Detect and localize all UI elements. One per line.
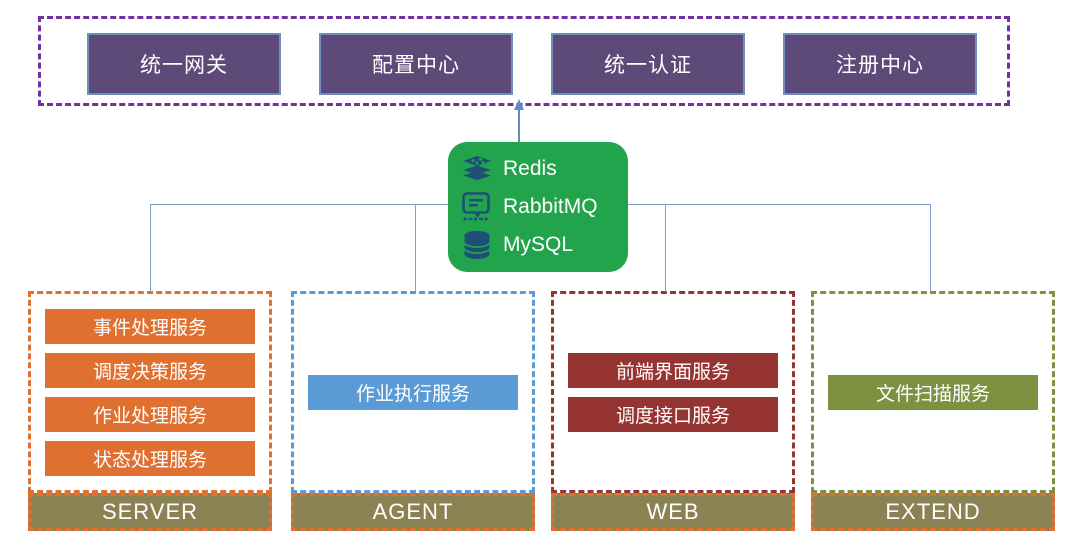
group-label-web: WEB xyxy=(551,493,795,531)
top-box-registry-center[interactable]: 注册中心 xyxy=(783,33,977,95)
service-label: 事件处理服务 xyxy=(93,313,207,340)
middleware-label: RabbitMQ xyxy=(503,195,598,219)
service-box-event-processing[interactable]: 事件处理服务 xyxy=(45,309,255,344)
group-label-server: SERVER xyxy=(28,493,272,531)
uplink-arrow-to-gateway xyxy=(514,99,524,143)
connector-drop-agent xyxy=(415,204,416,292)
gateway-layer-container: 统一网关 配置中心 统一认证 注册中心 xyxy=(38,16,1010,106)
middleware-item-redis[interactable]: Redis xyxy=(460,150,628,188)
group-label-text: SERVER xyxy=(102,499,198,525)
group-agent: 作业执行服务 xyxy=(291,291,535,493)
service-label: 作业处理服务 xyxy=(93,401,207,428)
service-box-job-processing[interactable]: 作业处理服务 xyxy=(45,397,255,432)
group-label-text: WEB xyxy=(646,499,699,525)
group-label-agent: AGENT xyxy=(291,493,535,531)
connector-drop-extend xyxy=(930,204,931,292)
service-box-state-processing[interactable]: 状态处理服务 xyxy=(45,441,255,476)
top-box-label: 配置中心 xyxy=(372,49,460,79)
top-box-unified-auth[interactable]: 统一认证 xyxy=(551,33,745,95)
top-box-unified-gateway[interactable]: 统一网关 xyxy=(87,33,281,95)
service-label: 前端界面服务 xyxy=(616,357,730,384)
top-box-label: 注册中心 xyxy=(836,49,924,79)
arrow-shaft xyxy=(518,108,520,142)
redis-layers-icon xyxy=(460,153,494,185)
middleware-item-mysql[interactable]: MySQL xyxy=(460,226,628,264)
service-label: 状态处理服务 xyxy=(93,445,207,472)
service-box-job-execution[interactable]: 作业执行服务 xyxy=(308,375,518,410)
rabbitmq-message-icon xyxy=(460,191,494,223)
service-label: 调度接口服务 xyxy=(616,401,730,428)
top-box-label: 统一认证 xyxy=(604,49,692,79)
service-box-scheduling-decision[interactable]: 调度决策服务 xyxy=(45,353,255,388)
group-web-services: 前端界面服务 调度接口服务 xyxy=(554,294,792,490)
mysql-database-icon xyxy=(460,229,494,261)
middleware-node[interactable]: Redis RabbitMQ xyxy=(448,142,628,272)
group-server-services: 事件处理服务 调度决策服务 作业处理服务 状态处理服务 xyxy=(31,294,269,490)
middleware-label: Redis xyxy=(503,157,557,181)
service-box-frontend-ui[interactable]: 前端界面服务 xyxy=(568,353,778,388)
connector-drop-web xyxy=(665,204,666,292)
group-web: 前端界面服务 调度接口服务 xyxy=(551,291,795,493)
middleware-label: MySQL xyxy=(503,233,573,257)
top-box-label: 统一网关 xyxy=(140,49,228,79)
group-extend-services: 文件扫描服务 xyxy=(814,294,1052,490)
top-box-config-center[interactable]: 配置中心 xyxy=(319,33,513,95)
group-agent-services: 作业执行服务 xyxy=(294,294,532,490)
service-label: 文件扫描服务 xyxy=(876,379,990,406)
architecture-diagram-canvas: 统一网关 配置中心 统一认证 注册中心 xyxy=(0,0,1080,545)
connector-drop-server xyxy=(150,204,151,292)
group-label-extend: EXTEND xyxy=(811,493,1055,531)
service-box-file-scanning[interactable]: 文件扫描服务 xyxy=(828,375,1038,410)
group-label-text: AGENT xyxy=(373,499,454,525)
group-label-text: EXTEND xyxy=(885,499,980,525)
middleware-item-rabbitmq[interactable]: RabbitMQ xyxy=(460,188,628,226)
service-label: 调度决策服务 xyxy=(93,357,207,384)
service-label: 作业执行服务 xyxy=(356,379,470,406)
service-box-scheduling-api[interactable]: 调度接口服务 xyxy=(568,397,778,432)
group-extend: 文件扫描服务 xyxy=(811,291,1055,493)
group-server: 事件处理服务 调度决策服务 作业处理服务 状态处理服务 xyxy=(28,291,272,493)
